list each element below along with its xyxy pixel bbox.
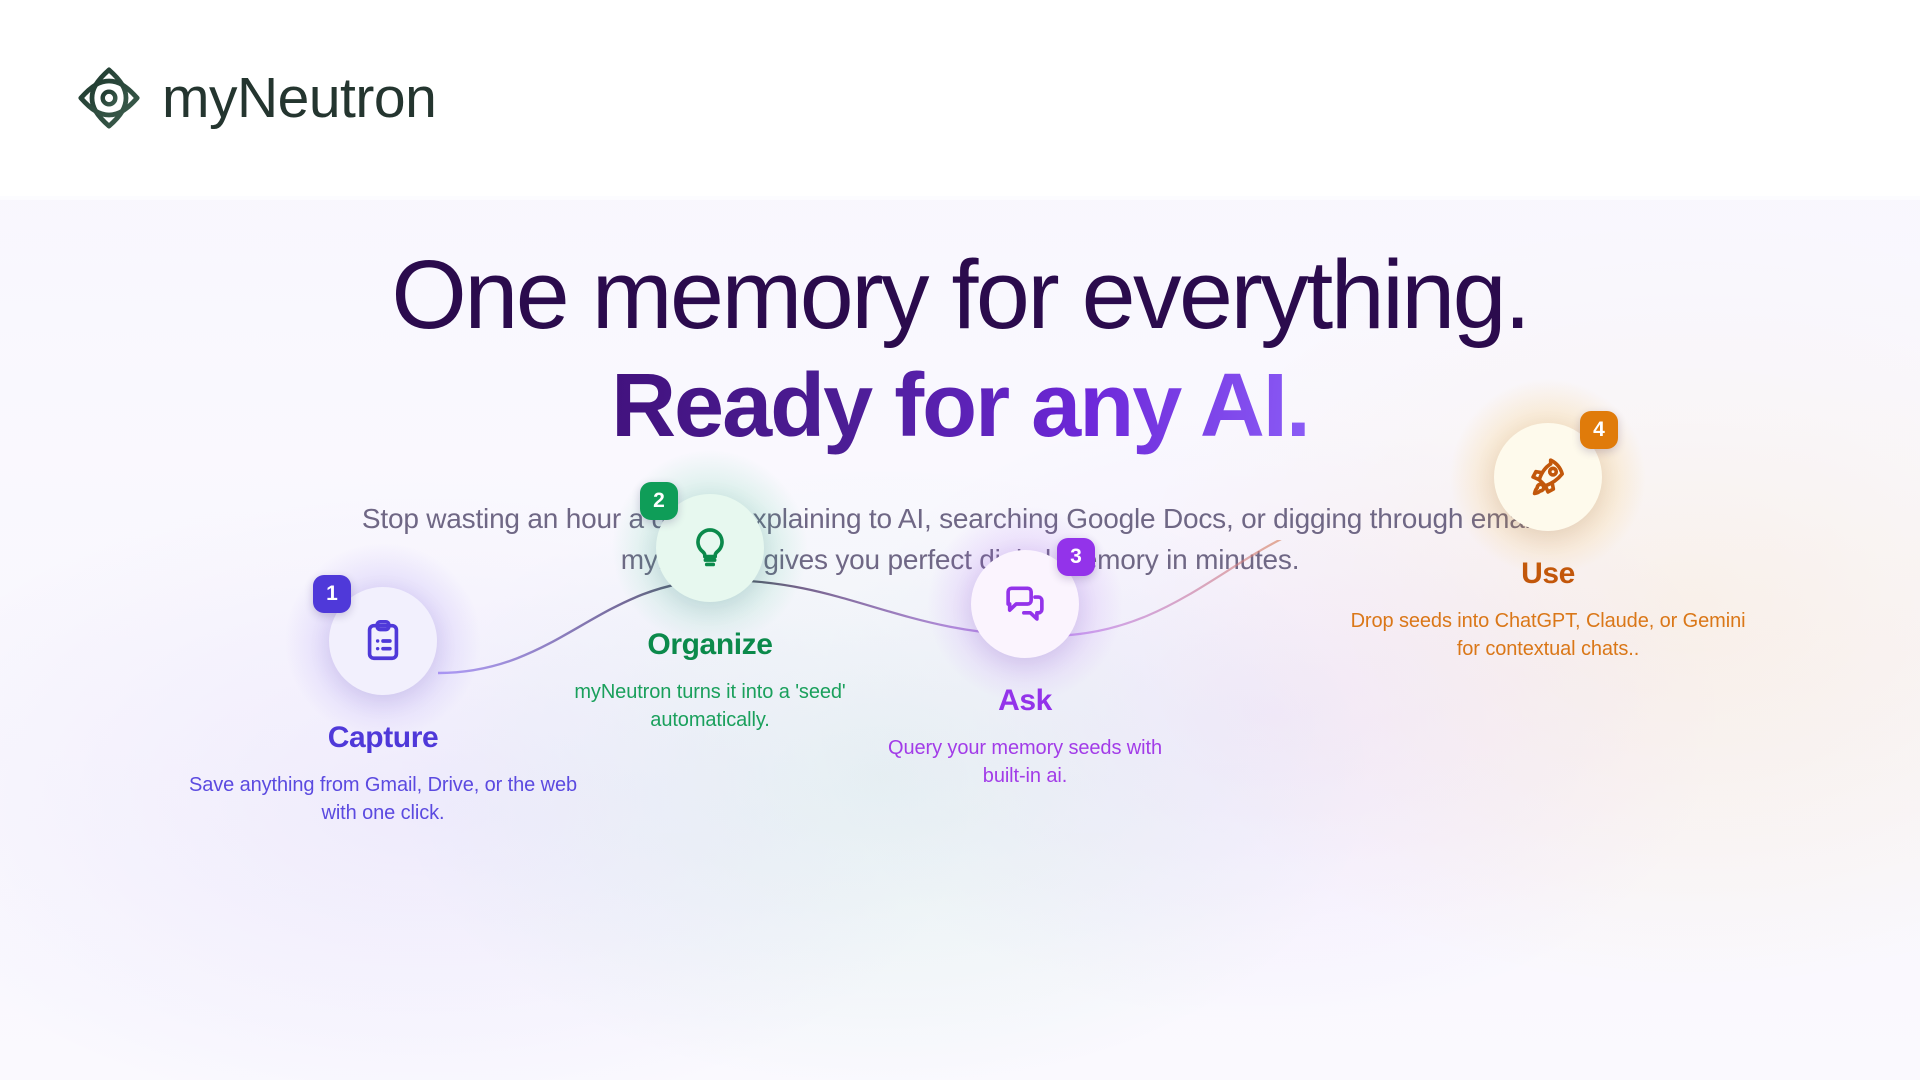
journey-steps: 1 Capture Save anything from Gmail, Driv… bbox=[0, 540, 1920, 1080]
step-desc-line-2: for contextual chats.. bbox=[1457, 638, 1639, 660]
journey-step-use[interactable]: 4 Use Drop seeds into ChatGPT, Claude, o… bbox=[1318, 423, 1778, 664]
step-badge: 3 bbox=[1057, 538, 1095, 576]
step-description: Save anything from Gmail, Drive, or the … bbox=[173, 771, 593, 828]
brand-logo[interactable]: myNeutron bbox=[72, 61, 436, 135]
clipboard-list-icon bbox=[360, 618, 406, 664]
step-desc-line-1: Query your memory seeds with bbox=[888, 737, 1162, 759]
lightbulb-icon bbox=[687, 525, 733, 571]
step-badge: 2 bbox=[640, 482, 678, 520]
step-description: Drop seeds into ChatGPT, Claude, or Gemi… bbox=[1318, 607, 1778, 664]
headline-line-1: One memory for everything. bbox=[0, 242, 1920, 349]
step-desc-line-1: Save anything from Gmail, Drive, or the … bbox=[189, 774, 577, 796]
step-node-wrap: 4 bbox=[1494, 423, 1602, 531]
step-node-wrap: 2 bbox=[656, 494, 764, 602]
step-desc-line-1: Drop seeds into ChatGPT, Claude, or Gemi… bbox=[1351, 610, 1746, 632]
step-desc-line-1: myNeutron turns it into a 'seed' bbox=[574, 681, 845, 703]
step-desc-line-2: built-in ai. bbox=[983, 765, 1067, 787]
step-badge-number: 4 bbox=[1593, 418, 1605, 442]
step-badge: 1 bbox=[313, 575, 351, 613]
step-badge-number: 3 bbox=[1070, 545, 1082, 569]
step-title: Ask bbox=[815, 684, 1235, 718]
site-header: myNeutron bbox=[0, 0, 1920, 196]
step-description: Query your memory seeds with built-in ai… bbox=[815, 734, 1235, 791]
step-badge-number: 2 bbox=[653, 489, 665, 513]
rocket-icon bbox=[1525, 454, 1571, 500]
headline-line-2: Ready for any AI. bbox=[611, 357, 1309, 456]
hero-page: myNeutron One memory for everything. Rea… bbox=[0, 0, 1920, 1080]
step-desc-line-2: with one click. bbox=[322, 802, 445, 824]
step-badge: 4 bbox=[1580, 411, 1618, 449]
journey-step-ask[interactable]: 3 Ask Query your memory seeds with built… bbox=[815, 550, 1235, 791]
neutron-orbit-logo-icon bbox=[72, 61, 146, 135]
step-desc-line-2: automatically. bbox=[650, 709, 769, 731]
step-badge-number: 1 bbox=[326, 582, 338, 606]
chat-bubbles-icon bbox=[1002, 581, 1048, 627]
step-title: Use bbox=[1318, 557, 1778, 591]
brand-wordmark: myNeutron bbox=[162, 70, 436, 127]
step-node-wrap: 3 bbox=[971, 550, 1079, 658]
step-node-wrap: 1 bbox=[329, 587, 437, 695]
